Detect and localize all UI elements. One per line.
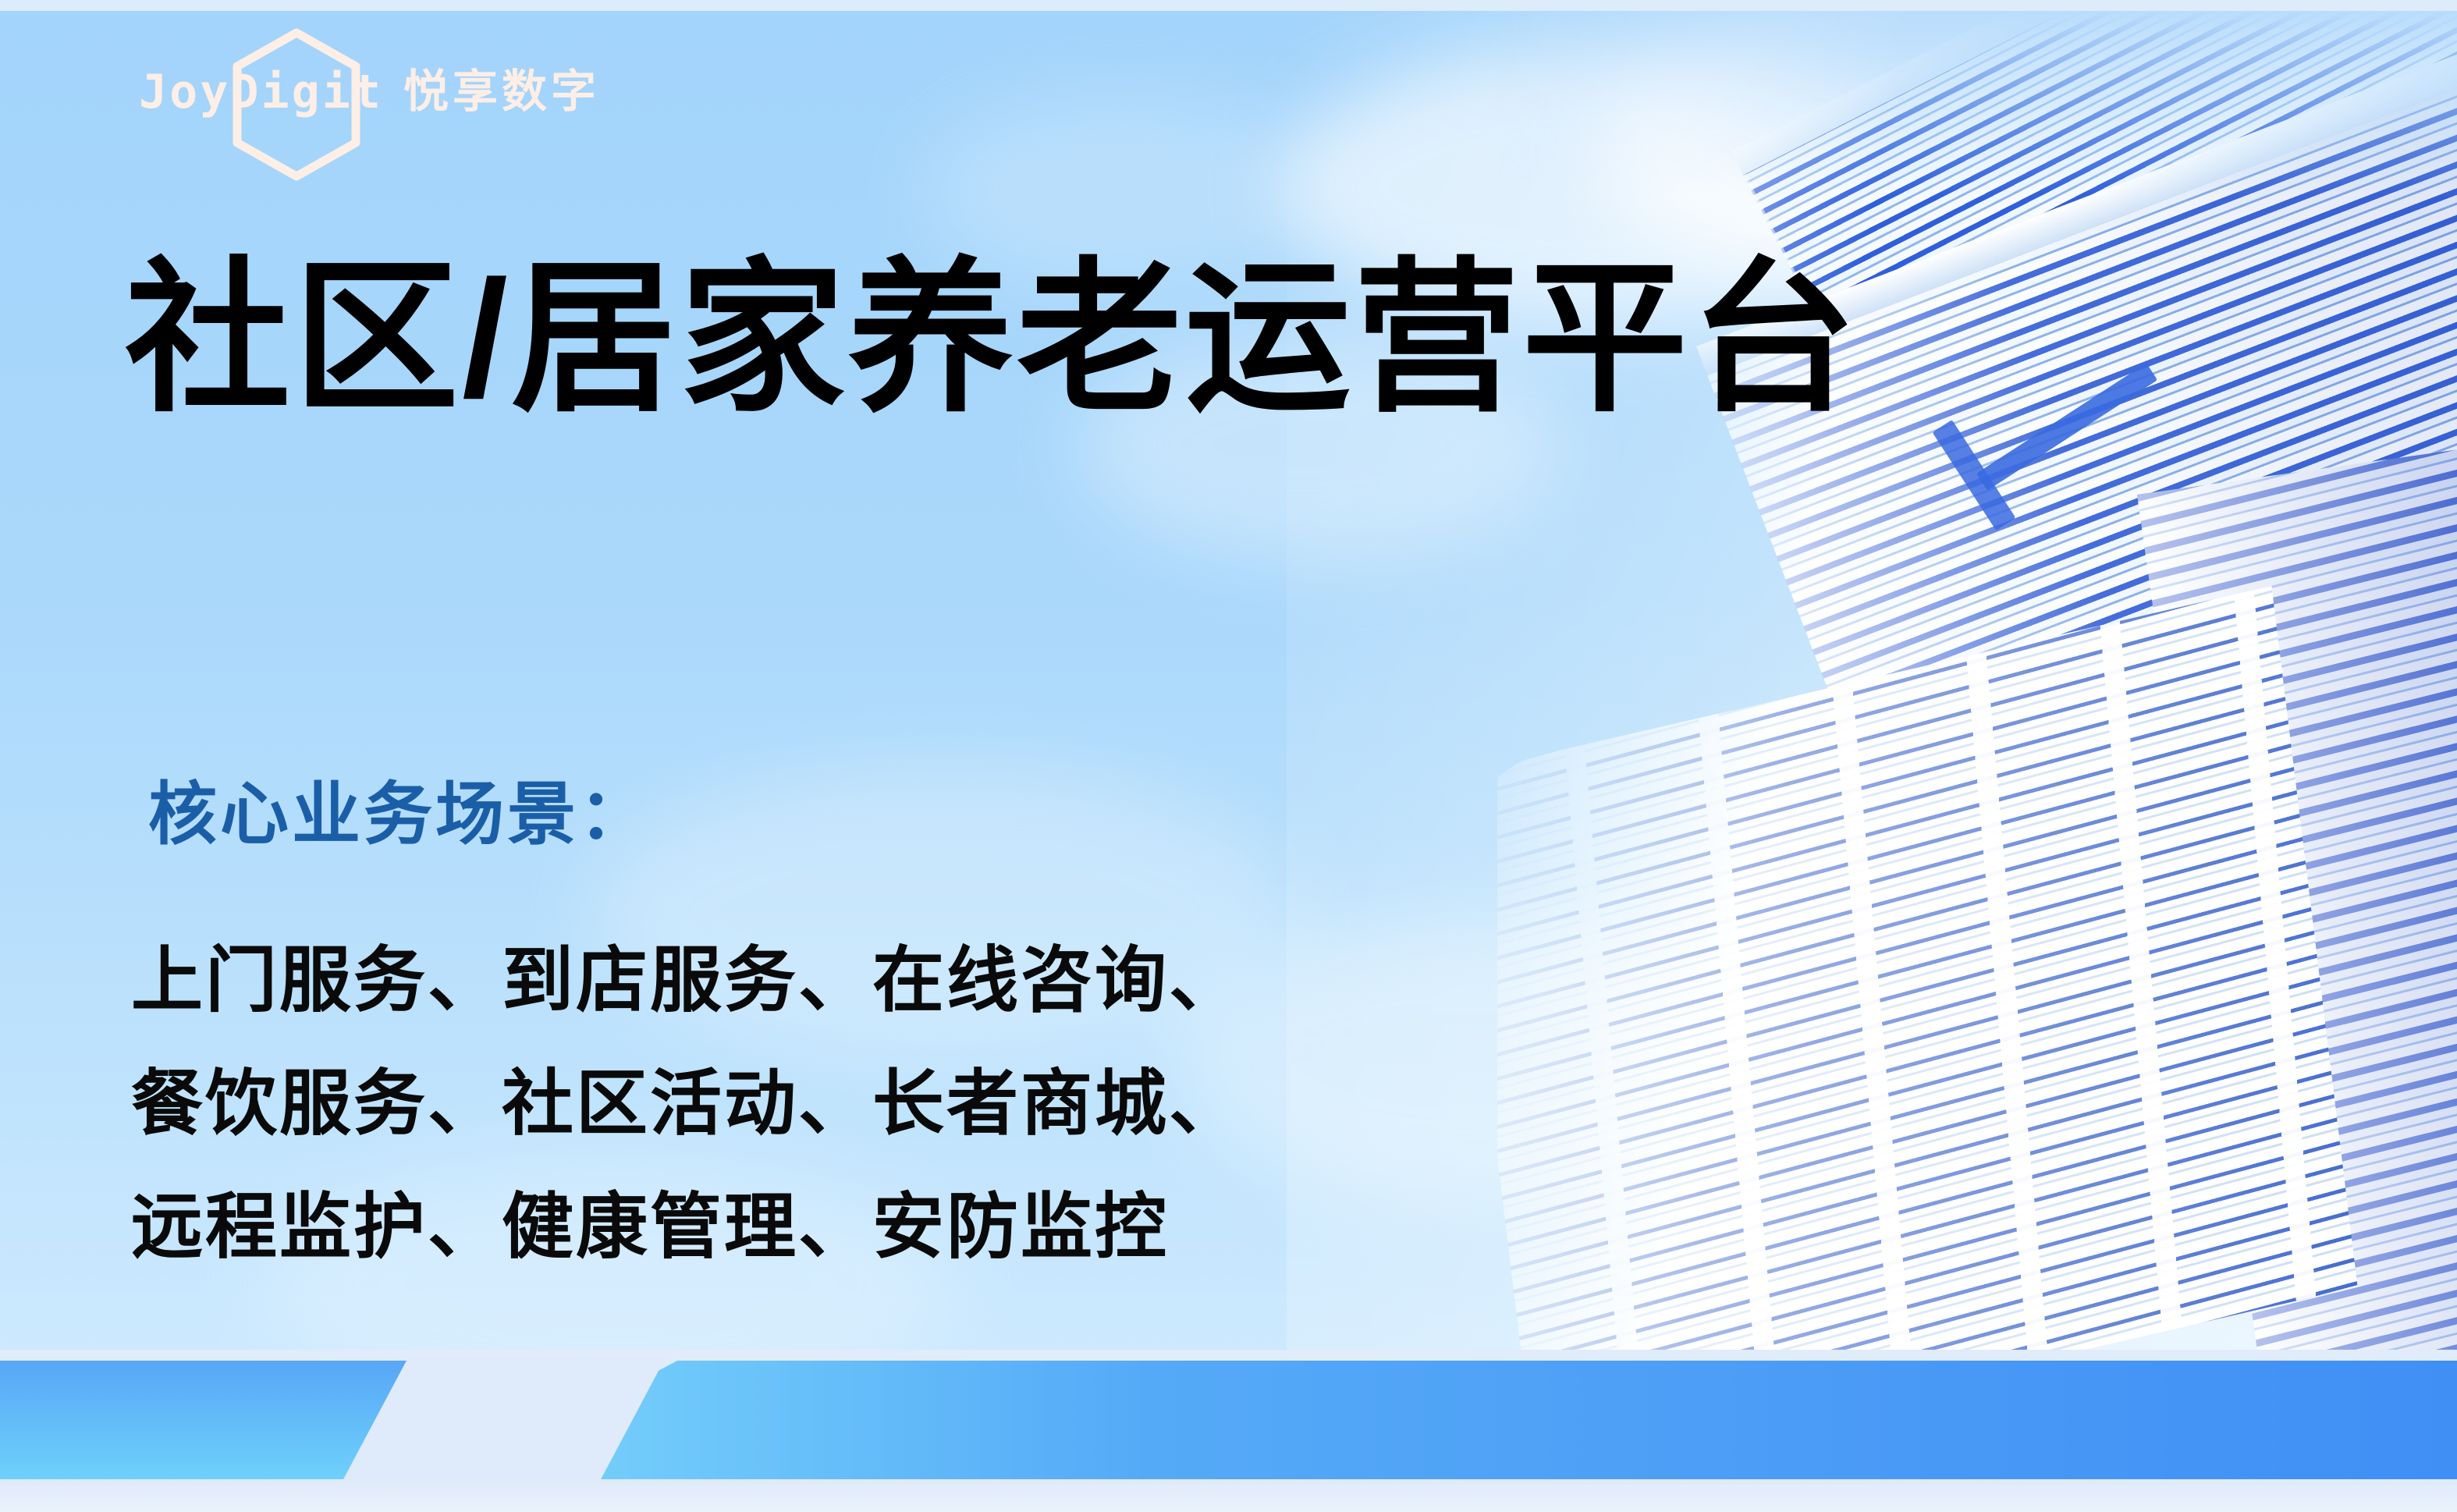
logo-chinese-name: 悦享数字 xyxy=(403,69,600,115)
scenario-line: 上门服务、到店服务、在线咨询、 xyxy=(131,919,1243,1042)
scenario-line: 餐饮服务、社区活动、长者商城、 xyxy=(131,1042,1243,1166)
skyscraper-photo xyxy=(1497,11,2457,1400)
footer-decoration xyxy=(0,1350,2457,1512)
section-subheading: 核心业务场景： xyxy=(148,780,651,849)
footer-base-strip xyxy=(0,1479,2457,1512)
logo-wordmark: JoyDigit xyxy=(139,69,383,115)
top-edge-strip xyxy=(0,0,2457,11)
page-title: 社区/居家养老运营平台 xyxy=(125,251,1859,427)
footer-band-right xyxy=(453,1361,2457,1479)
photo-blend-mask xyxy=(1497,11,2457,1400)
building-curved-shading xyxy=(1497,586,2358,1400)
brand-logo[interactable]: JoyDigit 悦享数字 xyxy=(139,69,600,115)
slide-canvas: JoyDigit 悦享数字 社区/居家养老运营平台 核心业务场景： 上门服务、到… xyxy=(0,0,2457,1512)
photo-top-fade xyxy=(1497,11,2457,198)
scenario-list: 上门服务、到店服务、在线咨询、 餐饮服务、社区活动、长者商城、 远程监护、健康管… xyxy=(131,919,1243,1290)
scenario-line: 远程监护、健康管理、安防监控 xyxy=(131,1166,1243,1289)
